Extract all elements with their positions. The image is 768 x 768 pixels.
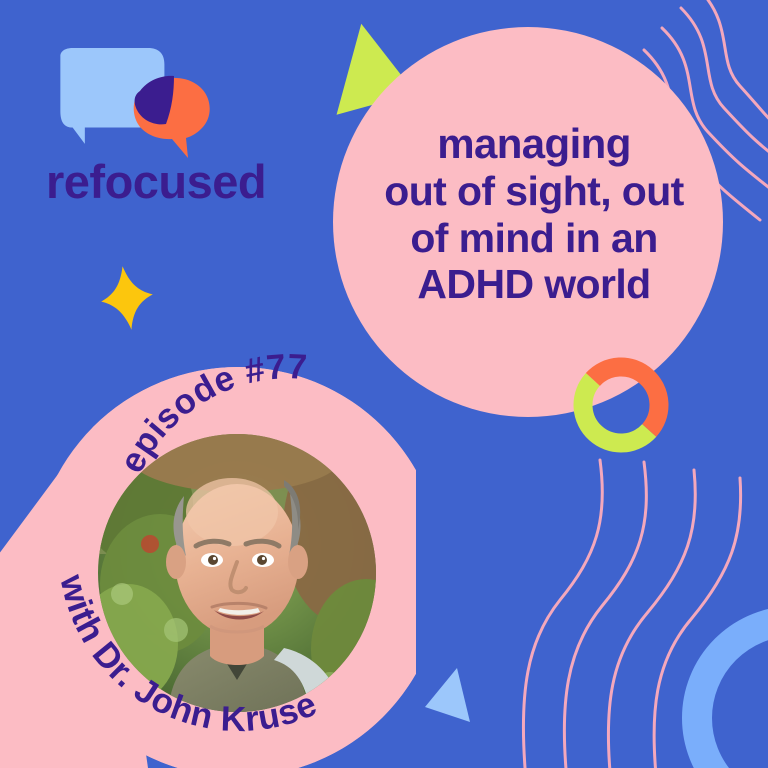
title-line-1: managing <box>348 120 720 168</box>
podcast-cover-art: refocused managing out of sight, out of … <box>0 0 768 768</box>
title-line-2: out of sight, out <box>348 168 720 215</box>
guest-portrait-photo <box>98 434 376 712</box>
episode-title: managing out of sight, out of mind in an… <box>348 120 720 308</box>
brand-wordmark: refocused <box>46 158 266 205</box>
title-line-4: ADHD world <box>348 261 720 308</box>
speech-bubbles-icon <box>46 46 246 171</box>
portrait-image <box>98 434 376 712</box>
brand-logo: refocused <box>46 46 296 211</box>
title-line-3: of mind in an <box>348 215 720 262</box>
